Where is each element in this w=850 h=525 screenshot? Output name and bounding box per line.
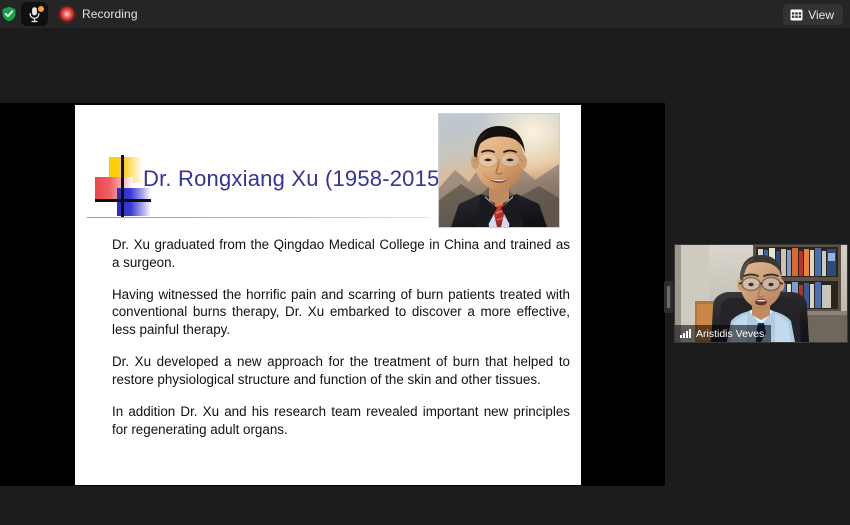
participant-name-badge: Aristidis Veves — [675, 325, 771, 342]
view-button[interactable]: View — [783, 4, 843, 25]
slide-paragraph: Having witnessed the horrific pain and s… — [112, 286, 570, 339]
meeting-top-bar: Recording View — [0, 0, 850, 28]
top-bar-right-group: View — [783, 4, 843, 25]
shield-check-icon[interactable] — [0, 0, 20, 28]
microphone-button[interactable] — [21, 2, 48, 26]
slide-paragraph: In addition Dr. Xu and his research team… — [112, 403, 570, 439]
recording-dot-icon — [60, 7, 74, 21]
grid-layout-icon — [790, 9, 803, 21]
zoom-meeting-window: Recording View — [0, 0, 850, 525]
audio-level-bars-icon — [680, 329, 691, 338]
recording-indicator[interactable]: Recording — [60, 7, 138, 21]
participant-video-tile[interactable]: Aristidis Veves — [674, 244, 848, 343]
decoration-vertical-line — [121, 155, 124, 217]
recording-label: Recording — [82, 7, 138, 21]
mic-status-dot — [38, 6, 44, 12]
sidebar-resize-handle[interactable] — [664, 281, 673, 313]
participant-name: Aristidis Veves — [696, 328, 764, 340]
slide-title-underline — [87, 217, 429, 218]
slide-body-text: Dr. Xu graduated from the Qingdao Medica… — [112, 236, 570, 438]
slide-title: Dr. Rongxiang Xu (1958-2015) — [143, 166, 447, 192]
slide-paragraph: Dr. Xu graduated from the Qingdao Medica… — [112, 236, 570, 272]
portrait-photo — [438, 113, 560, 228]
presentation-slide: Dr. Rongxiang Xu (1958-2015) — [75, 105, 581, 485]
view-button-label: View — [808, 8, 834, 22]
slide-paragraph: Dr. Xu developed a new approach for the … — [112, 353, 570, 389]
resize-grip-icon — [667, 286, 670, 308]
top-bar-left-group: Recording — [0, 0, 138, 28]
